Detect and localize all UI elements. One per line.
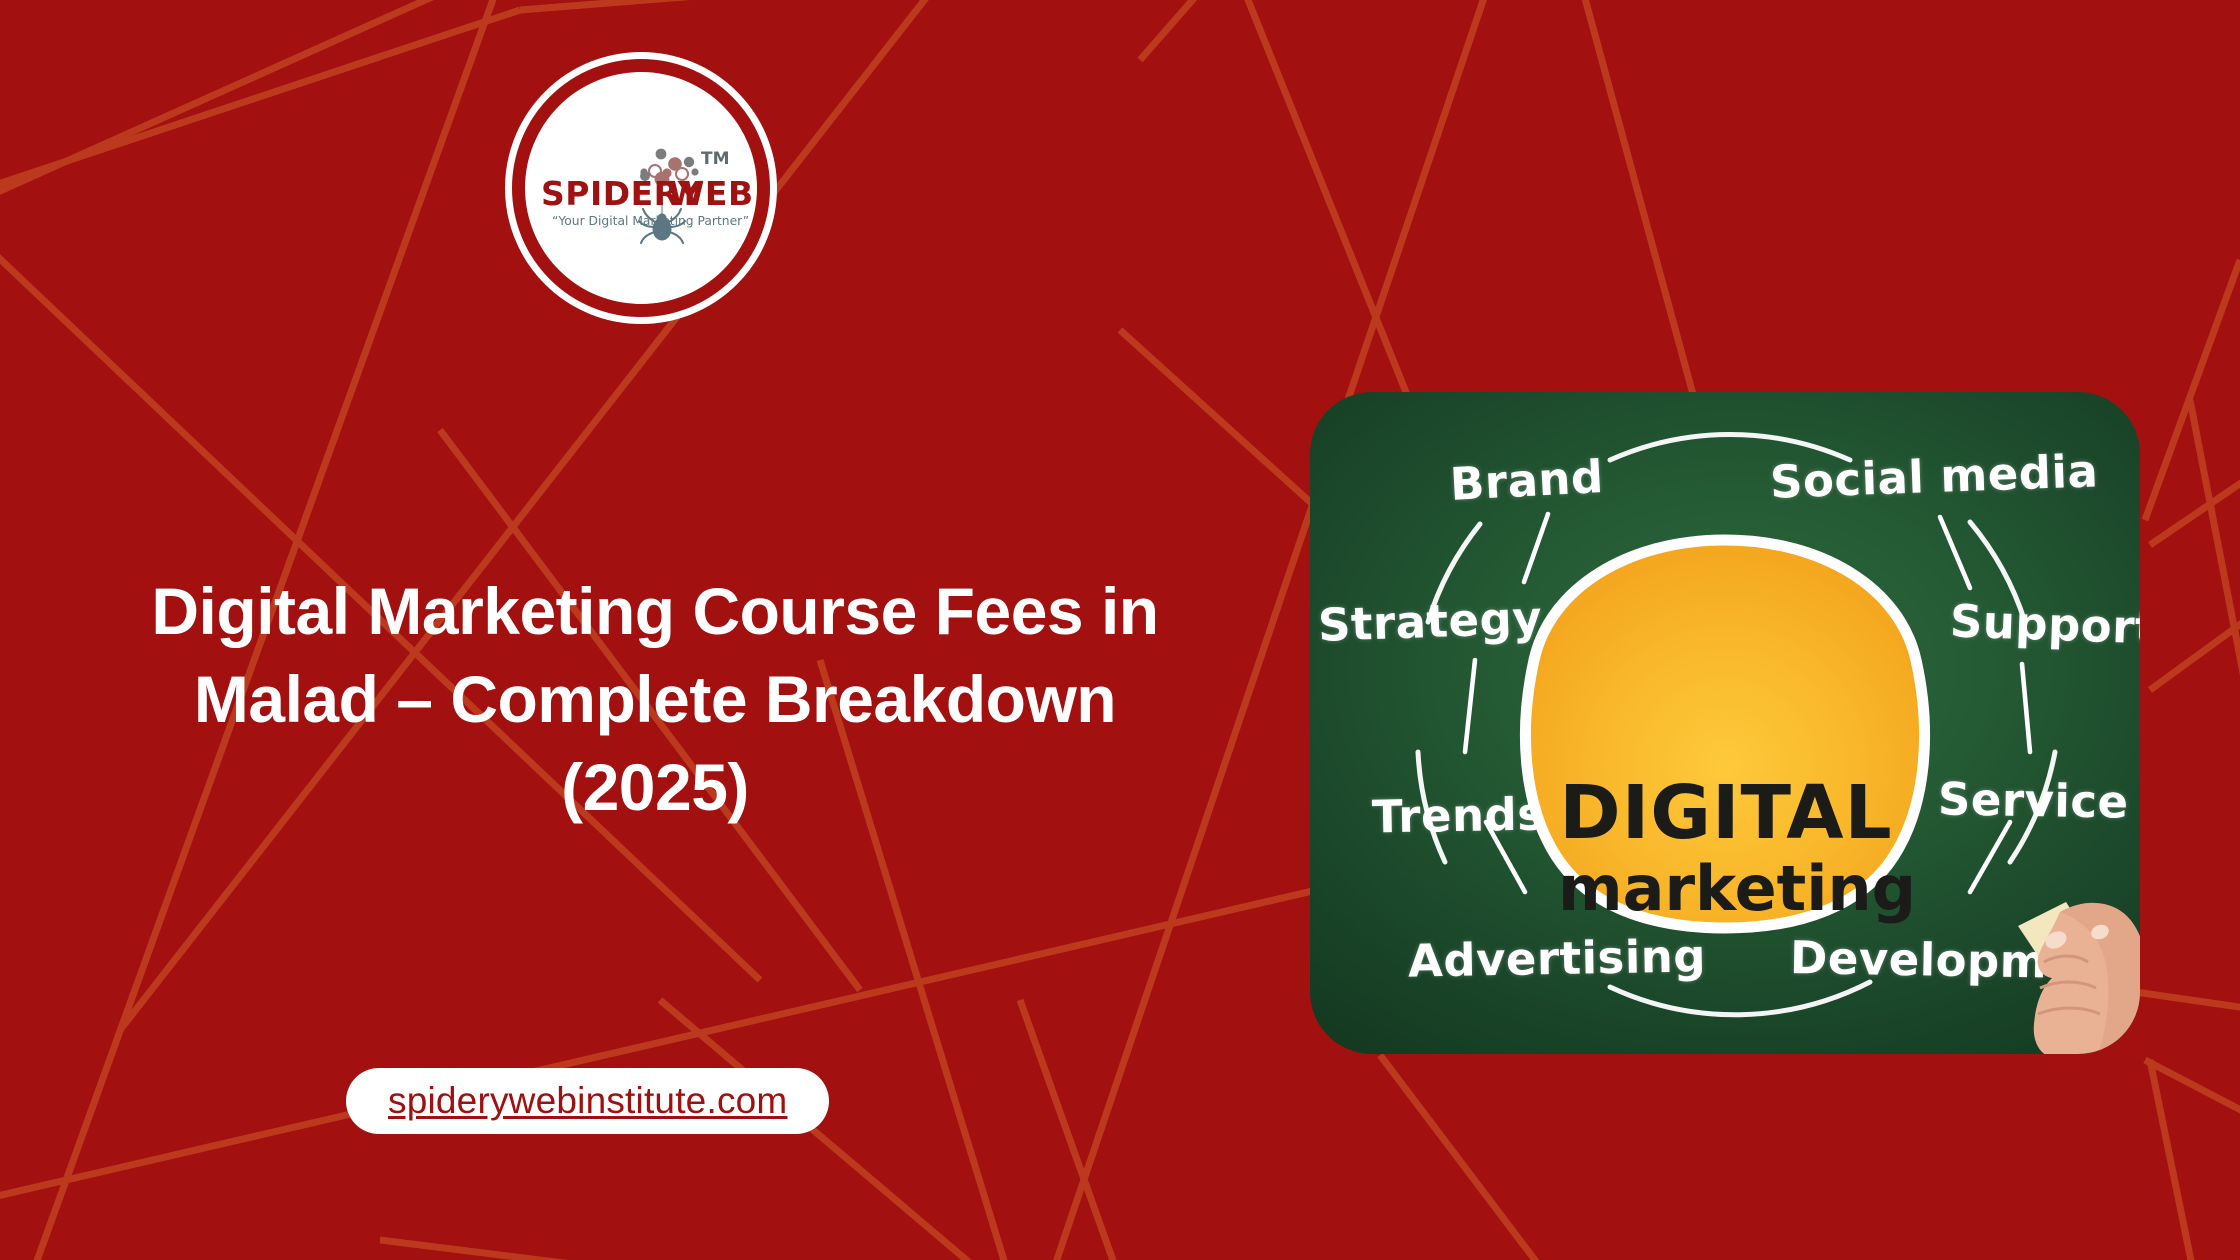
chalk-label-support: Support <box>1949 594 2140 654</box>
headline-line-1: Digital Marketing Course Fees in <box>40 568 1270 656</box>
headline-line-2: Malad – Complete Breakdown <box>40 656 1270 744</box>
website-url-pill[interactable]: spiderywebinstitute.com <box>346 1068 829 1134</box>
chalk-label-trends: Trends <box>1372 787 1545 843</box>
spidery-web-logo-art: SPIDERY WEB TM “Your Digital Marketing P… <box>525 72 757 304</box>
logo-inner-disc: SPIDERY WEB TM “Your Digital Marketing P… <box>525 72 757 304</box>
logo-brand-second: WEB <box>668 174 754 213</box>
poster-canvas: SPIDERY WEB TM “Your Digital Marketing P… <box>0 0 2240 1260</box>
logo-tagline: “Your Digital Marketing Partner” <box>552 214 749 228</box>
headline-line-3: (2025) <box>40 744 1270 832</box>
core-text-wrap: DIGITAL marketing <box>1558 540 1894 910</box>
chalk-label-advertising: Advertising <box>1408 929 1707 987</box>
page-title: Digital Marketing Course Fees in Malad –… <box>40 568 1270 831</box>
brand-logo-badge: SPIDERY WEB TM “Your Digital Marketing P… <box>505 52 777 324</box>
core-title-marketing: marketing <box>1558 852 1894 925</box>
logo-trademark: TM <box>701 149 730 169</box>
core-title-digital: DIGITAL <box>1558 770 1894 856</box>
website-url-text[interactable]: spiderywebinstitute.com <box>388 1080 787 1122</box>
chalkboard-illustration: DIGITAL marketing Brand Social media Str… <box>1310 392 2140 1054</box>
chalk-label-service: Service <box>1938 772 2129 828</box>
chalk-label-strategy: Strategy <box>1317 591 1543 652</box>
chalk-label-brand: Brand <box>1449 450 1605 511</box>
hand-holding-chalk-icon <box>2000 884 2140 1054</box>
